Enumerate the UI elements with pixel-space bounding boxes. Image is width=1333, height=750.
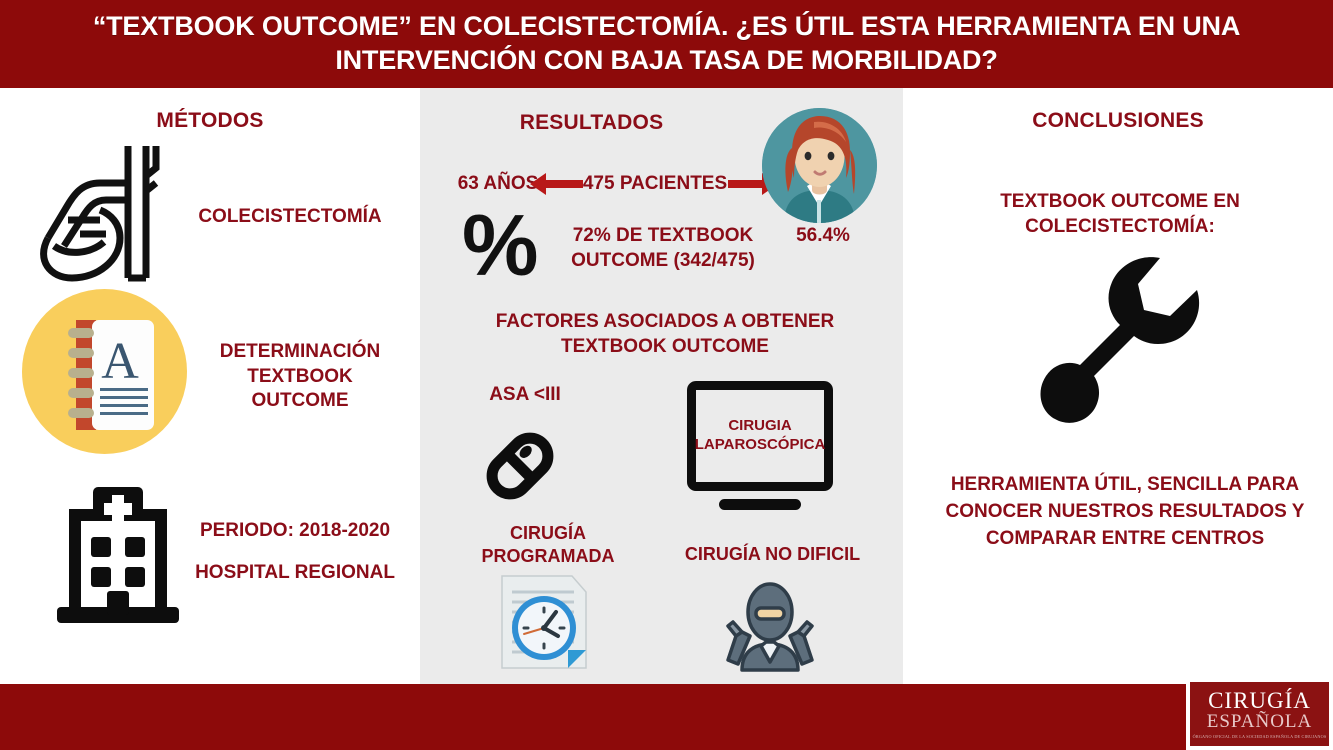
wrench-icon (1032, 250, 1207, 425)
methods-period-label: PERIODO: 2018-2020 (170, 519, 420, 544)
methods-hospital-label: HOSPITAL REGIONAL (170, 561, 420, 586)
journal-logo-inner: CIRUGÍA ESPAÑOLA ÓRGANO OFICIAL DE LA SO… (1189, 681, 1330, 747)
footer-bar (0, 684, 1333, 750)
results-asa-label: ASA <III (460, 383, 590, 408)
results-patient-count-label: 475 PACIENTES (580, 172, 730, 197)
pill-icon (470, 416, 570, 516)
female-patient-avatar (762, 108, 877, 223)
hospital-icon (55, 487, 180, 627)
clock-document-icon (494, 572, 594, 672)
arrow-right-shaft (728, 180, 763, 188)
page-title: “TEXTBOOK OUTCOME” EN COLECISTECTOMÍA. ¿… (77, 10, 1257, 78)
conclusions-heading: TEXTBOOK OUTCOME EN COLECISTECTOMÍA: (960, 190, 1280, 239)
infographic-poster: “TEXTBOOK OUTCOME” EN COLECISTECTOMÍA. ¿… (0, 0, 1333, 750)
conclusions-body: HERRAMIENTA ÚTIL, SENCILLA PARA CONOCER … (940, 472, 1310, 553)
results-textbook-outcome-label: 72% DE TEXTBOOK OUTCOME (342/475) (558, 224, 768, 273)
journal-logo-line-2: ESPAÑOLA (1207, 712, 1313, 732)
monitor-screen: CIRUGIA LAPAROSCÓPICA (687, 381, 833, 491)
journal-logo: CIRUGÍA ESPAÑOLA ÓRGANO OFICIAL DE LA SO… (1186, 678, 1333, 750)
conclusions-section-title: CONCLUSIONES (903, 109, 1333, 133)
results-factors-title: FACTORES ASOCIADOS A OBTENER TEXTBOOK OU… (470, 310, 860, 359)
notebook-icon: A (62, 316, 162, 434)
arrow-left-icon (530, 173, 546, 195)
monitor-text-line-2: LAPAROSCÓPICA (695, 436, 826, 455)
methods-cholecystectomy-label: COLECISTECTOMÍA (170, 205, 410, 230)
arrow-left-shaft (543, 180, 583, 188)
monitor-text-line-1: CIRUGIA (695, 417, 826, 436)
journal-logo-subtitle: ÓRGANO OFICIAL DE LA SOCIEDAD ESPAÑOLA D… (1193, 734, 1327, 739)
monitor-icon: CIRUGIA LAPAROSCÓPICA (687, 381, 833, 513)
monitor-screen-text: CIRUGIA LAPAROSCÓPICA (695, 417, 826, 455)
journal-logo-line-1: CIRUGÍA (1208, 689, 1311, 712)
results-female-percentage-label: 56.4% (778, 224, 868, 249)
monitor-stand (719, 499, 801, 510)
methods-determination-label: DETERMINACIÓN TEXTBOOK OUTCOME (200, 340, 400, 414)
results-not-difficult-surgery-label: CIRUGÍA NO DIFICIL (675, 543, 870, 566)
results-section-title: RESULTADOS (350, 111, 833, 135)
percent-sign-icon: % (462, 203, 538, 289)
gallbladder-icon (28, 138, 178, 283)
results-scheduled-surgery-label: CIRUGÍA PROGRAMADA (468, 522, 628, 569)
svg-text:A: A (101, 333, 139, 390)
surgeon-icon (720, 578, 820, 673)
header-bar: “TEXTBOOK OUTCOME” EN COLECISTECTOMÍA. ¿… (0, 0, 1333, 88)
